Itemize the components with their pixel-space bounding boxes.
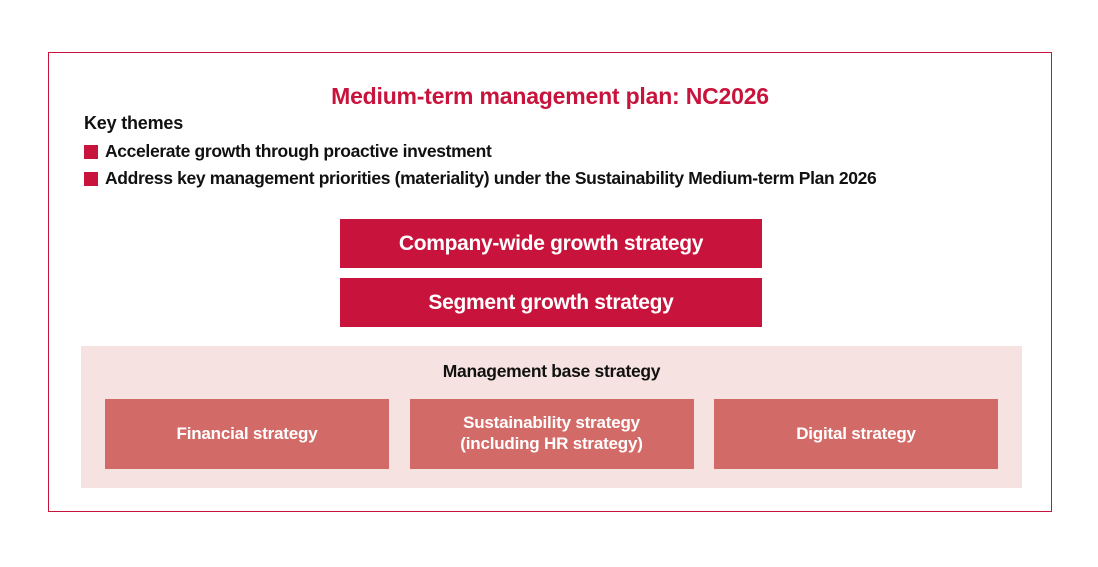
- key-theme-label: Address key management priorities (mater…: [105, 168, 876, 189]
- key-theme-item: Address key management priorities (mater…: [84, 168, 1034, 189]
- page-title: Medium-term management plan: NC2026: [49, 83, 1051, 110]
- key-themes-heading: Key themes: [84, 113, 1034, 134]
- square-bullet-icon: [84, 145, 98, 159]
- key-theme-label: Accelerate growth through proactive inve…: [105, 141, 492, 162]
- sustainability-strategy-label: Sustainability strategy (including HR st…: [460, 413, 642, 454]
- key-themes-section: Key themes Accelerate growth through pro…: [84, 113, 1034, 195]
- digital-strategy-label: Digital strategy: [796, 424, 916, 445]
- management-base-strategy-title: Management base strategy: [81, 361, 1022, 382]
- financial-strategy-label: Financial strategy: [177, 424, 318, 445]
- base-strategy-box-row: Financial strategy Sustainability strate…: [105, 399, 998, 469]
- key-theme-item: Accelerate growth through proactive inve…: [84, 141, 1034, 162]
- segment-growth-strategy-bar: Segment growth strategy: [340, 278, 762, 327]
- sustainability-strategy-box: Sustainability strategy (including HR st…: [410, 399, 694, 469]
- management-base-strategy-panel: Management base strategy Financial strat…: [81, 346, 1022, 488]
- company-wide-growth-strategy-bar: Company-wide growth strategy: [340, 219, 762, 268]
- digital-strategy-box: Digital strategy: [714, 399, 998, 469]
- financial-strategy-box: Financial strategy: [105, 399, 389, 469]
- diagram-frame: Medium-term management plan: NC2026 Key …: [48, 52, 1052, 512]
- square-bullet-icon: [84, 172, 98, 186]
- slide-canvas: Medium-term management plan: NC2026 Key …: [0, 0, 1098, 567]
